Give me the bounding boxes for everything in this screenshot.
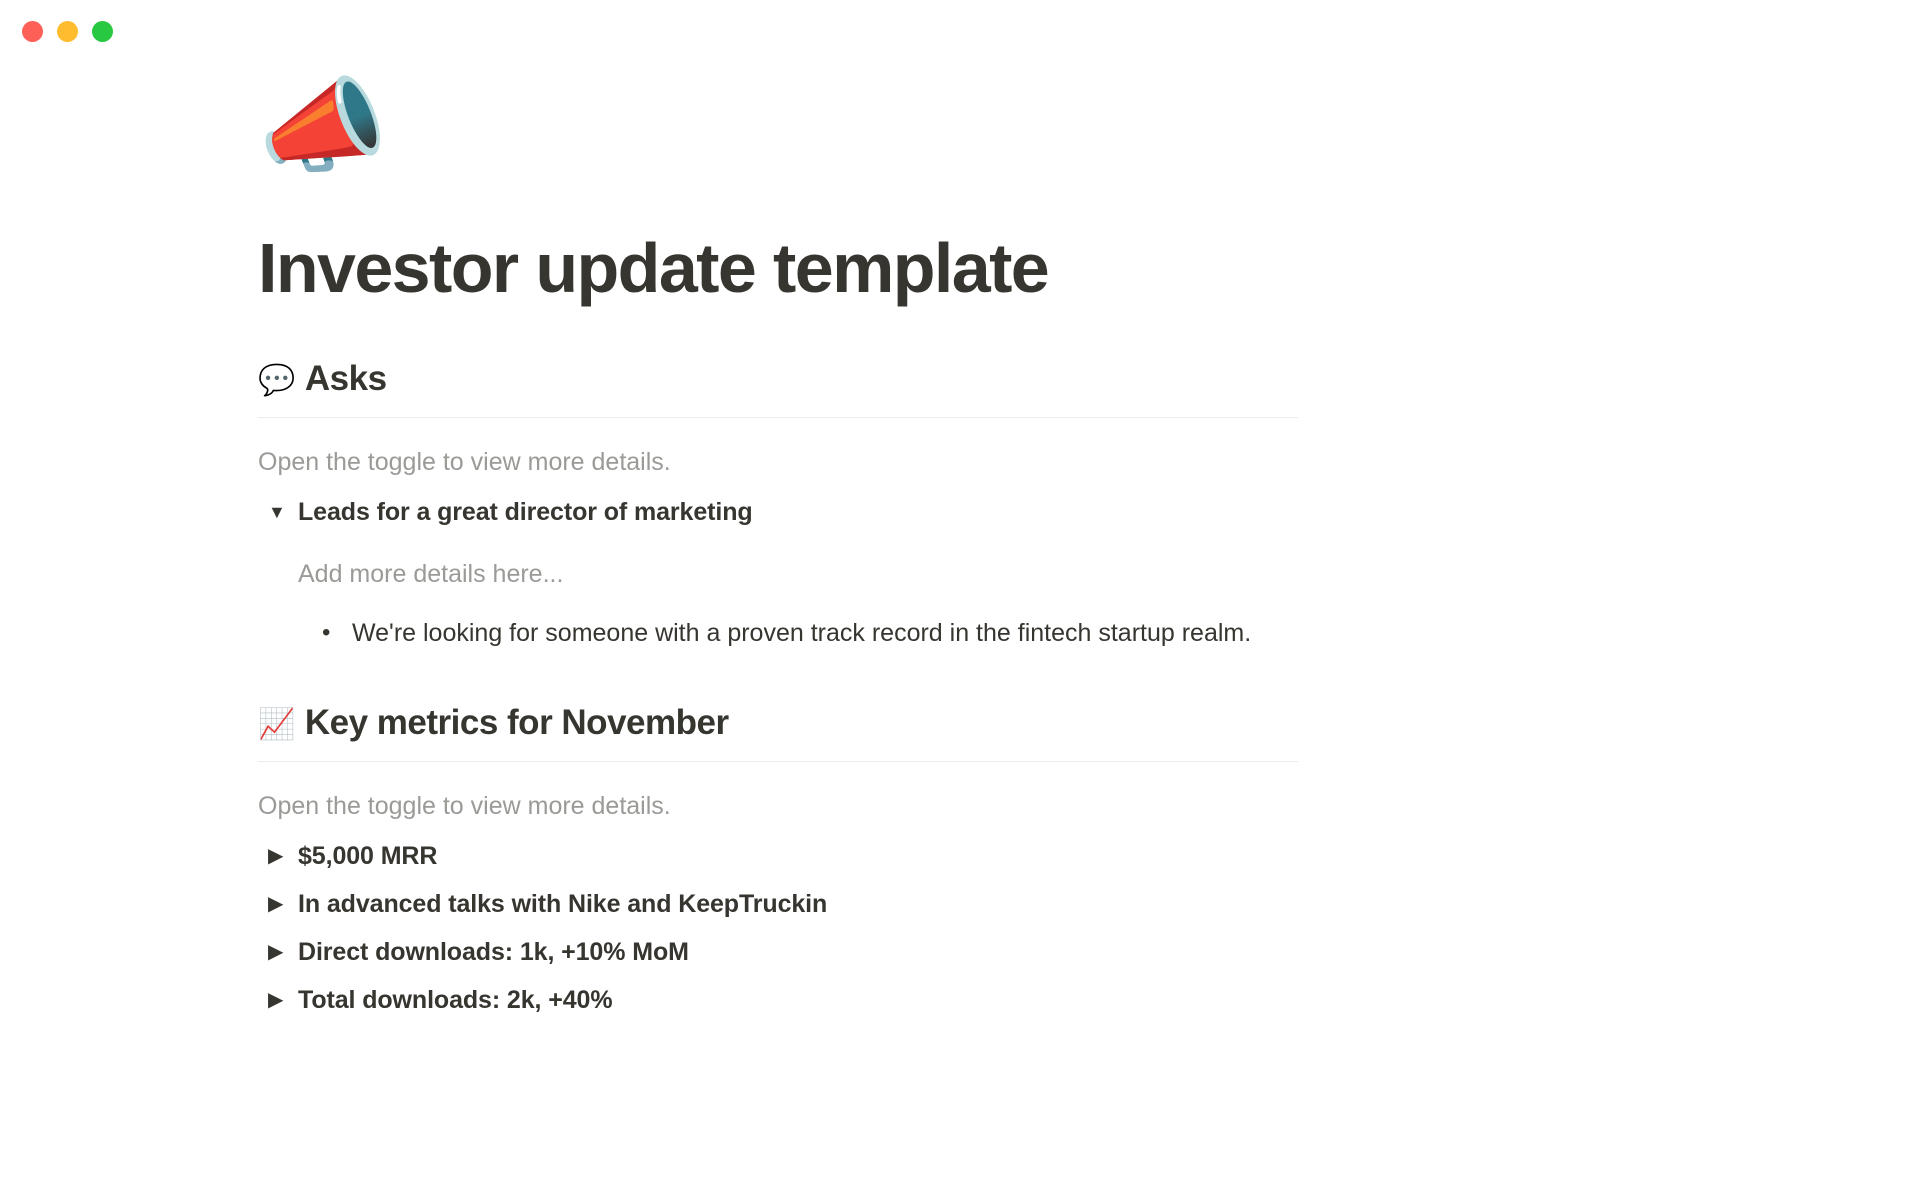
chart-increasing-emoji-icon: 📈 bbox=[258, 710, 295, 740]
bullet-list-leads: • We're looking for someone with a prove… bbox=[298, 615, 1298, 651]
chevron-right-icon[interactable]: ▶ bbox=[268, 934, 298, 970]
section-hint-key-metrics: Open the toggle to view more details. bbox=[258, 788, 1298, 824]
document-content: 📣 Investor update template 💬 Asks Open t… bbox=[258, 74, 1298, 1018]
section-heading-key-metrics[interactable]: 📈 Key metrics for November bbox=[258, 703, 1298, 751]
toggle-label: Leads for a great director of marketing bbox=[298, 494, 753, 530]
toggle-label: $5,000 MRR bbox=[298, 838, 437, 874]
section-hint-asks: Open the toggle to view more details. bbox=[258, 444, 1298, 480]
toggle-leads-for-director-of-marketing[interactable]: ▼ Leads for a great director of marketin… bbox=[258, 494, 1298, 530]
section-heading-asks[interactable]: 💬 Asks bbox=[258, 359, 1298, 407]
bullet-dot-icon: • bbox=[322, 615, 352, 651]
chevron-down-icon[interactable]: ▼ bbox=[268, 494, 298, 530]
toggle-mrr[interactable]: ▶ $5,000 MRR bbox=[258, 838, 1298, 874]
window-maximize-button[interactable] bbox=[92, 21, 113, 42]
window-traffic-lights bbox=[22, 21, 113, 42]
document-page: 📣 Investor update template 💬 Asks Open t… bbox=[0, 62, 1920, 1018]
window-minimize-button[interactable] bbox=[57, 21, 78, 42]
toggle-label: Total downloads: 2k, +40% bbox=[298, 982, 612, 1018]
chevron-right-icon[interactable]: ▶ bbox=[268, 838, 298, 874]
megaphone-emoji-icon[interactable]: 📣 bbox=[258, 74, 1298, 194]
toggle-list-key-metrics: ▶ $5,000 MRR ▶ In advanced talks with Ni… bbox=[258, 838, 1298, 1018]
section-heading-asks-label: Asks bbox=[305, 359, 387, 399]
page-title[interactable]: Investor update template bbox=[258, 230, 1298, 307]
speech-balloon-emoji-icon: 💬 bbox=[258, 366, 295, 396]
toggle-direct-downloads[interactable]: ▶ Direct downloads: 1k, +10% MoM bbox=[258, 934, 1298, 970]
chevron-right-icon[interactable]: ▶ bbox=[268, 982, 298, 1018]
section-heading-key-metrics-label: Key metrics for November bbox=[305, 703, 729, 743]
list-item[interactable]: • We're looking for someone with a prove… bbox=[322, 615, 1298, 651]
section-asks: 💬 Asks Open the toggle to view more deta… bbox=[258, 359, 1298, 651]
list-item-text: We're looking for someone with a proven … bbox=[352, 615, 1251, 651]
toggle-label: Direct downloads: 1k, +10% MoM bbox=[298, 934, 689, 970]
toggle-children-leads: Add more details here... • We're looking… bbox=[298, 556, 1298, 650]
window-close-button[interactable] bbox=[22, 21, 43, 42]
toggle-list-asks: ▼ Leads for a great director of marketin… bbox=[258, 494, 1298, 650]
toggle-child-hint[interactable]: Add more details here... bbox=[298, 556, 1298, 592]
toggle-advanced-talks[interactable]: ▶ In advanced talks with Nike and KeepTr… bbox=[258, 886, 1298, 922]
section-divider-key-metrics bbox=[258, 761, 1298, 762]
toggle-total-downloads[interactable]: ▶ Total downloads: 2k, +40% bbox=[258, 982, 1298, 1018]
window-title-bar bbox=[0, 0, 1920, 62]
chevron-right-icon[interactable]: ▶ bbox=[268, 886, 298, 922]
section-divider-asks bbox=[258, 417, 1298, 418]
toggle-label: In advanced talks with Nike and KeepTruc… bbox=[298, 886, 827, 922]
section-key-metrics: 📈 Key metrics for November Open the togg… bbox=[258, 703, 1298, 1018]
